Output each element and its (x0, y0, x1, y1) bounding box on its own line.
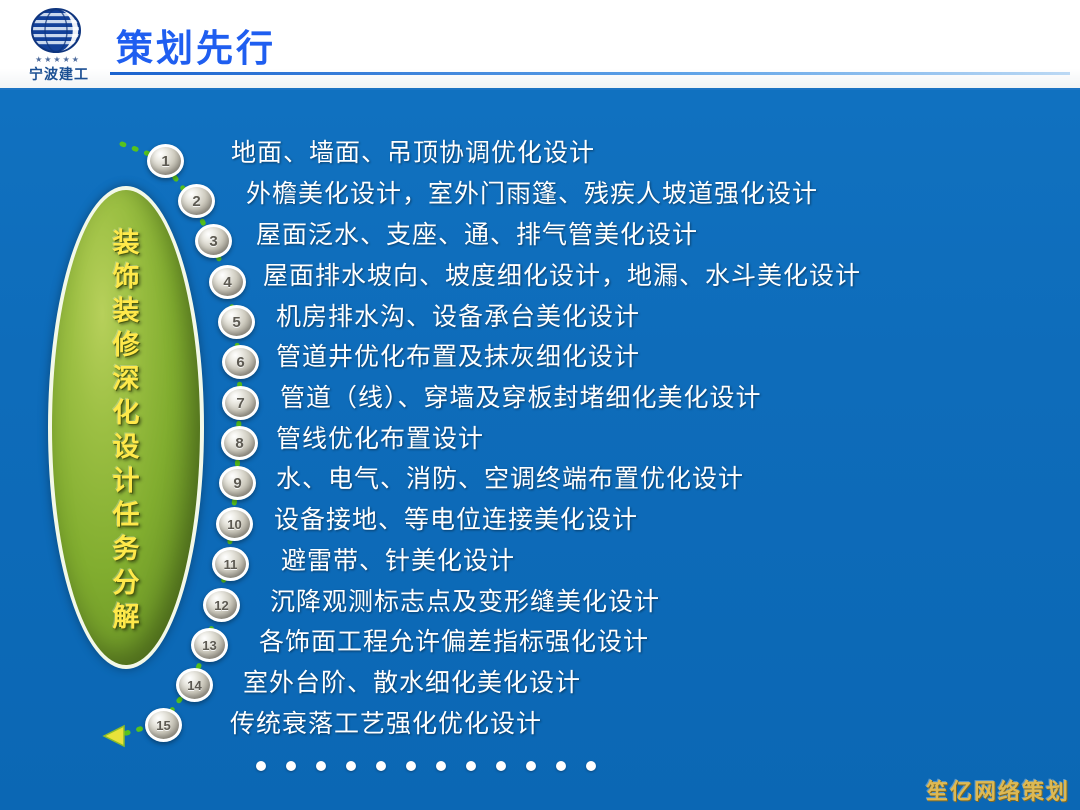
bottom-dot (466, 761, 476, 771)
step-bubble-7[interactable]: 7 (222, 386, 259, 420)
badge-char: 装 (113, 295, 140, 329)
bottom-dot (286, 761, 296, 771)
step-text-10: 设备接地、等电位连接美化设计 (274, 506, 638, 534)
bottom-dot (526, 761, 536, 771)
badge-char: 任 (113, 499, 140, 533)
logo-company-name: 宁波建工 (16, 64, 102, 84)
step-text-14: 室外台阶、散水细化美化设计 (243, 669, 581, 697)
step-bubble-10[interactable]: 10 (216, 507, 253, 541)
bottom-dot (316, 761, 326, 771)
step-bubble-1[interactable]: 1 (147, 144, 184, 178)
page-title: 策划先行 (116, 18, 276, 72)
bottom-dot (406, 761, 416, 771)
bottom-dot (586, 761, 596, 771)
step-bubble-3[interactable]: 3 (195, 224, 232, 258)
bottom-dot (436, 761, 446, 771)
badge-char: 化 (113, 397, 140, 431)
step-text-2: 外檐美化设计，室外门雨篷、残疾人坡道强化设计 (246, 180, 818, 208)
step-bubble-12[interactable]: 12 (203, 588, 240, 622)
badge-char: 解 (113, 601, 140, 635)
step-text-6: 管道井优化布置及抹灰细化设计 (276, 343, 640, 371)
badge-char: 计 (113, 465, 140, 499)
step-text-15: 传统衰落工艺强化优化设计 (230, 710, 542, 738)
step-text-3: 屋面泛水、支座、通、排气管美化设计 (256, 221, 698, 249)
step-bubble-8[interactable]: 8 (221, 426, 258, 460)
badge-char: 分 (113, 567, 140, 601)
watermark: 笙亿网络策划 (926, 774, 1070, 806)
step-bubble-14[interactable]: 14 (176, 668, 213, 702)
badge-char: 装 (113, 227, 140, 261)
step-bubble-11[interactable]: 11 (212, 547, 249, 581)
step-text-11: 避雷带、针美化设计 (281, 547, 515, 575)
badge-char: 饰 (113, 261, 140, 295)
step-text-5: 机房排水沟、设备承台美化设计 (276, 303, 640, 331)
step-text-7: 管道（线）、穿墙及穿板封堵细化美化设计 (280, 384, 762, 412)
step-bubble-4[interactable]: 4 (209, 265, 246, 299)
bottom-dot (376, 761, 386, 771)
bottom-dot-row (256, 759, 596, 773)
bottom-dot (496, 761, 506, 771)
step-text-12: 沉降观测标志点及变形缝美化设计 (270, 588, 660, 616)
company-logo: ★★★★★ 宁波建工 (16, 6, 102, 86)
step-text-8: 管线优化布置设计 (276, 425, 484, 453)
step-bubble-13[interactable]: 13 (191, 628, 228, 662)
step-bubble-9[interactable]: 9 (219, 466, 256, 500)
step-bubble-2[interactable]: 2 (178, 184, 215, 218)
arrow-head-icon (104, 726, 124, 746)
step-bubble-15[interactable]: 15 (145, 708, 182, 742)
task-badge-ellipse: 装 饰 装 修 深 化 设 计 任 务 分 解 (48, 186, 204, 669)
step-bubble-5[interactable]: 5 (218, 305, 255, 339)
header-divider (110, 72, 1070, 75)
badge-char: 设 (113, 431, 140, 465)
badge-char: 务 (113, 533, 140, 567)
step-text-1: 地面、墙面、吊顶协调优化设计 (231, 139, 595, 167)
globe-logo-icon (30, 7, 86, 54)
bottom-dot (256, 761, 266, 771)
step-text-13: 各饰面工程允许偏差指标强化设计 (259, 628, 649, 656)
slide-root: ★★★★★ 宁波建工 策划先行 装 饰 装 修 深 化 设 计 任 务 分 解 … (0, 0, 1080, 810)
task-badge-label: 装 饰 装 修 深 化 设 计 任 务 分 解 (52, 190, 200, 665)
bottom-dot (556, 761, 566, 771)
badge-char: 深 (113, 363, 140, 397)
step-text-4: 屋面排水坡向、坡度细化设计，地漏、水斗美化设计 (263, 262, 861, 290)
badge-char: 修 (113, 329, 140, 363)
bottom-dot (346, 761, 356, 771)
slide-header: ★★★★★ 宁波建工 策划先行 (0, 0, 1080, 90)
step-bubble-6[interactable]: 6 (222, 345, 259, 379)
step-text-9: 水、电气、消防、空调终端布置优化设计 (276, 465, 744, 493)
